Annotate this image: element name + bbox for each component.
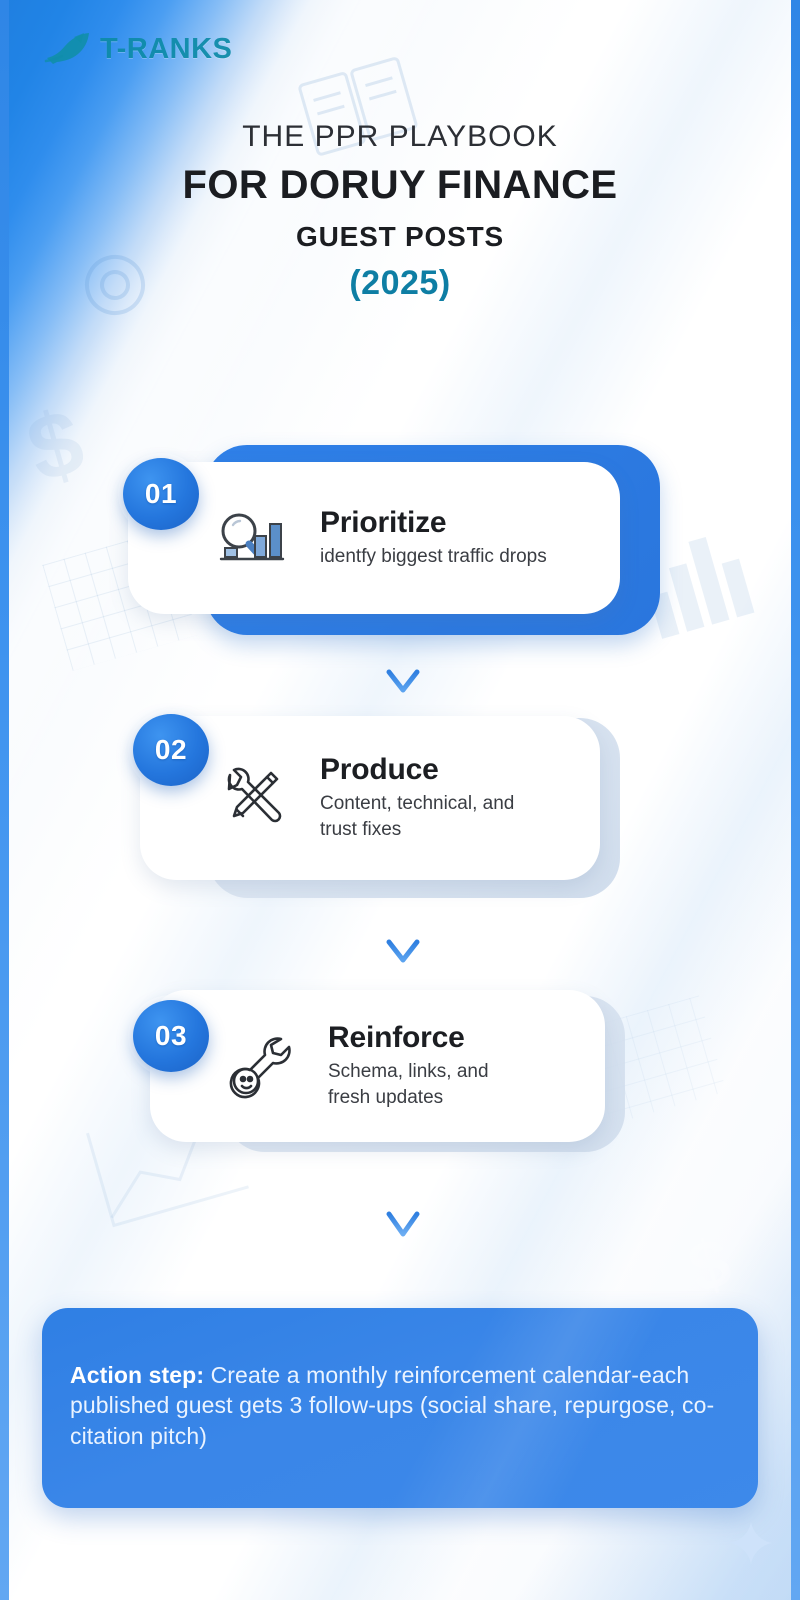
step-3-content: Reinforce Schema, links, and fresh updat… xyxy=(150,990,605,1142)
arrow-step-3-to-banner xyxy=(383,1160,423,1243)
arrow-step-1-to-2 xyxy=(383,628,423,699)
action-step-text: Action step: Create a monthly reinforcem… xyxy=(70,1360,734,1451)
step-1-number: 01 xyxy=(145,478,177,510)
step-1-subtitle: identfy biggest traffic drops xyxy=(320,544,547,570)
step-3-title: Reinforce xyxy=(328,1021,523,1055)
step-2-subtitle: Content, technical, and trust fixes xyxy=(320,791,535,843)
step-1-title: Prioritize xyxy=(320,506,547,540)
infographic-poster: $ $ xyxy=(0,0,800,1600)
step-3-subtitle: Schema, links, and fresh updates xyxy=(328,1059,523,1111)
step-1-content: Prioritize identfy biggest traffic drops xyxy=(128,462,620,614)
step-2-content: Produce Content, technical, and trust fi… xyxy=(140,716,600,880)
step-2-number-badge: 02 xyxy=(133,714,209,786)
step-1-card[interactable]: Prioritize identfy biggest traffic drops xyxy=(128,462,620,614)
action-step-label: Action step: xyxy=(70,1362,204,1388)
step-3-card[interactable]: Reinforce Schema, links, and fresh updat… xyxy=(150,990,605,1142)
step-3-number-badge: 03 xyxy=(133,1000,209,1072)
arrow-step-2-to-3 xyxy=(383,898,423,969)
four-point-sparkle-icon xyxy=(728,1520,774,1566)
action-step-banner: Action step: Create a monthly reinforcem… xyxy=(42,1308,758,1508)
step-3-number: 03 xyxy=(155,1020,187,1052)
step-2-number: 02 xyxy=(155,734,187,766)
step-2-title: Produce xyxy=(320,753,535,787)
step-1-number-badge: 01 xyxy=(123,458,199,530)
step-2-card[interactable]: Produce Content, technical, and trust fi… xyxy=(140,716,600,880)
